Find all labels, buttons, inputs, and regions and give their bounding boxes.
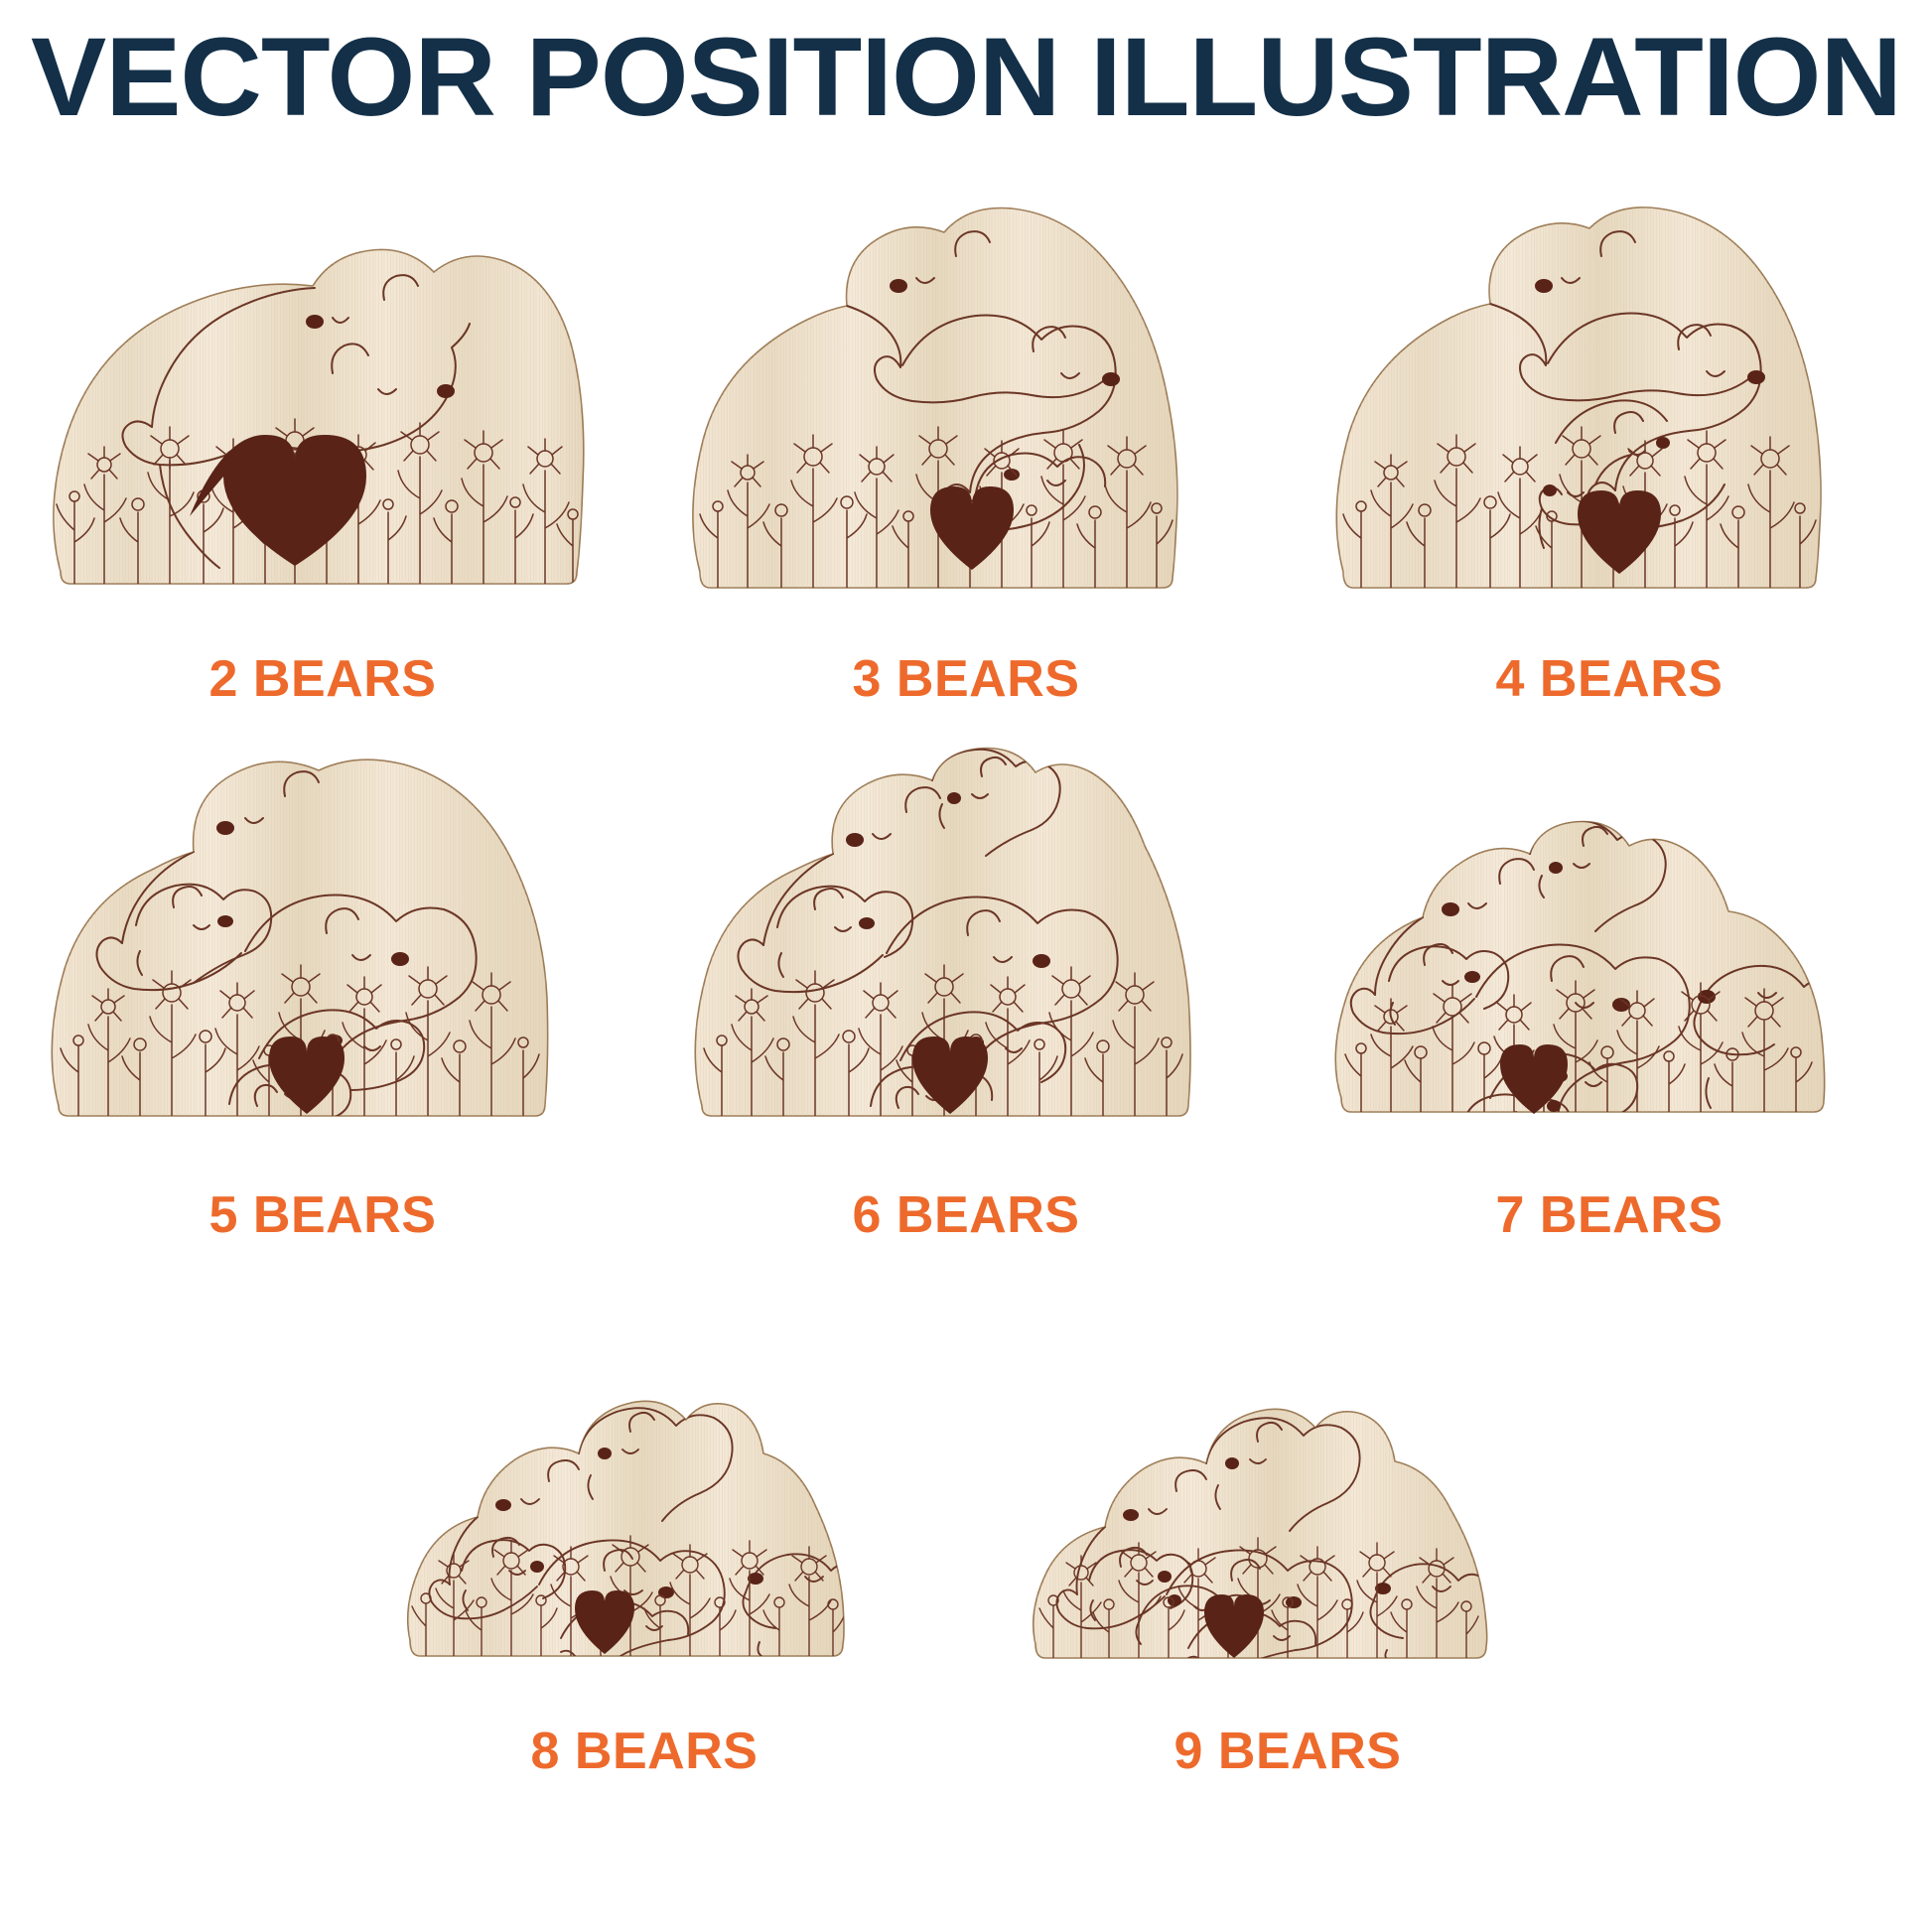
gallery-item-3-bears[interactable]: 3 BEARS xyxy=(644,155,1288,705)
plaque-body xyxy=(693,208,1177,589)
plaque-svg-2 xyxy=(35,214,611,631)
bear-family-plaque-5 xyxy=(25,691,621,1168)
bear-family-plaque-2 xyxy=(25,155,621,631)
gallery-row-1: 2 BEARS xyxy=(0,169,1932,705)
gallery-item-9-bears[interactable]: 9 BEARS xyxy=(966,1227,1609,1777)
bear-family-plaque-3 xyxy=(668,155,1264,631)
gallery-item-8-bears[interactable]: 8 BEARS xyxy=(323,1227,966,1777)
plaque-svg-7 xyxy=(1321,770,1897,1168)
gallery-item-7-bears[interactable]: 7 BEARS xyxy=(1288,691,1931,1241)
bear-gallery-grid: 2 BEARS xyxy=(0,169,1932,1777)
gallery-item-4-bears[interactable]: 4 BEARS xyxy=(1288,155,1931,705)
plaque-svg-4 xyxy=(1321,195,1897,631)
gallery-item-6-bears[interactable]: 6 BEARS xyxy=(644,691,1288,1241)
plaque-svg-8 xyxy=(366,1307,922,1704)
item-label: 9 BEARS xyxy=(1174,1725,1402,1777)
plaque-svg-9 xyxy=(1010,1307,1566,1704)
bear-family-plaque-6 xyxy=(668,691,1264,1168)
gallery-item-2-bears[interactable]: 2 BEARS xyxy=(1,155,644,705)
bear-family-plaque-9 xyxy=(990,1227,1586,1704)
item-label: 8 BEARS xyxy=(531,1725,759,1777)
plaque-svg-6 xyxy=(678,731,1254,1168)
bear-family-plaque-4 xyxy=(1311,155,1907,631)
bear-family-plaque-7 xyxy=(1311,691,1907,1168)
plaque-body xyxy=(1336,207,1821,588)
plaque-svg-5 xyxy=(35,731,611,1168)
bear-family-plaque-8 xyxy=(346,1227,942,1704)
gallery-row-3: 8 BEARS xyxy=(0,1241,1932,1777)
plaque-svg-3 xyxy=(678,195,1254,631)
gallery-row-2: 5 BEARS xyxy=(0,705,1932,1241)
page-title: VECTOR POSITION ILLUSTRATION xyxy=(0,22,1932,133)
gallery-item-5-bears[interactable]: 5 BEARS xyxy=(1,691,644,1241)
